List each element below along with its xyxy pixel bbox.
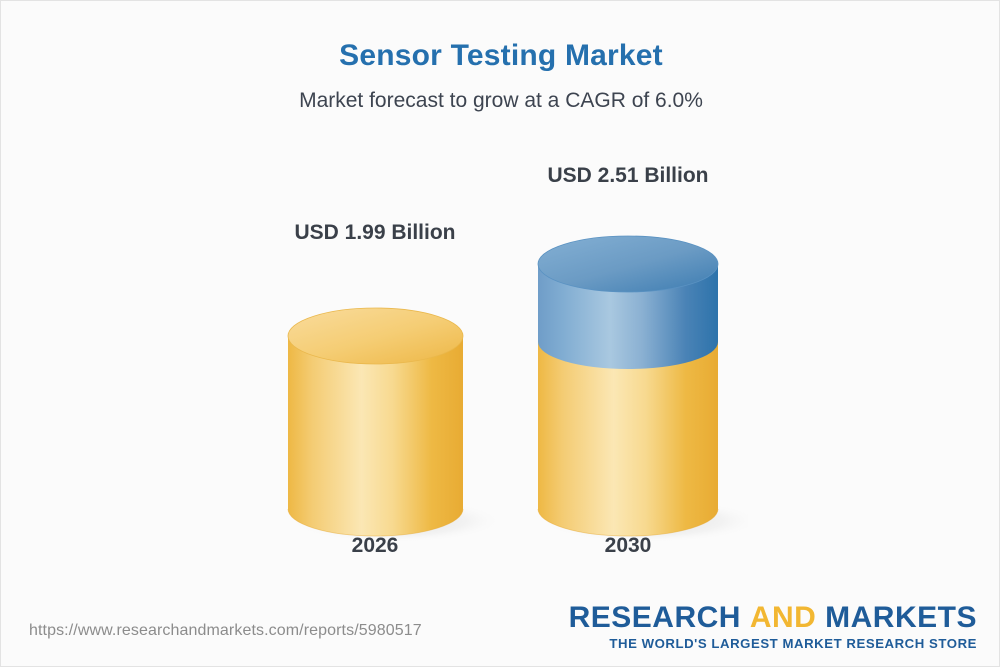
- chart-image: Sensor Testing Market Market forecast to…: [0, 0, 1000, 667]
- brand-wordmark: RESEARCH AND MARKETS: [569, 601, 977, 635]
- value-label-2030: USD 2.51 Billion: [528, 164, 728, 188]
- brand-word-research: RESEARCH: [569, 601, 741, 634]
- value-label-2026: USD 1.99 Billion: [275, 221, 475, 245]
- category-label-2026: 2026: [275, 534, 475, 558]
- brand-word-markets: MARKETS: [825, 601, 977, 634]
- plot-area: USD 1.99 Billion: [1, 1, 1000, 601]
- brand-tagline: THE WORLD'S LARGEST MARKET RESEARCH STOR…: [569, 636, 977, 652]
- brand-logo[interactable]: RESEARCH AND MARKETS THE WORLD'S LARGEST…: [569, 601, 977, 652]
- source-url[interactable]: https://www.researchandmarkets.com/repor…: [29, 622, 422, 640]
- brand-word-and: AND: [750, 601, 817, 634]
- category-label-2030: 2030: [528, 534, 728, 558]
